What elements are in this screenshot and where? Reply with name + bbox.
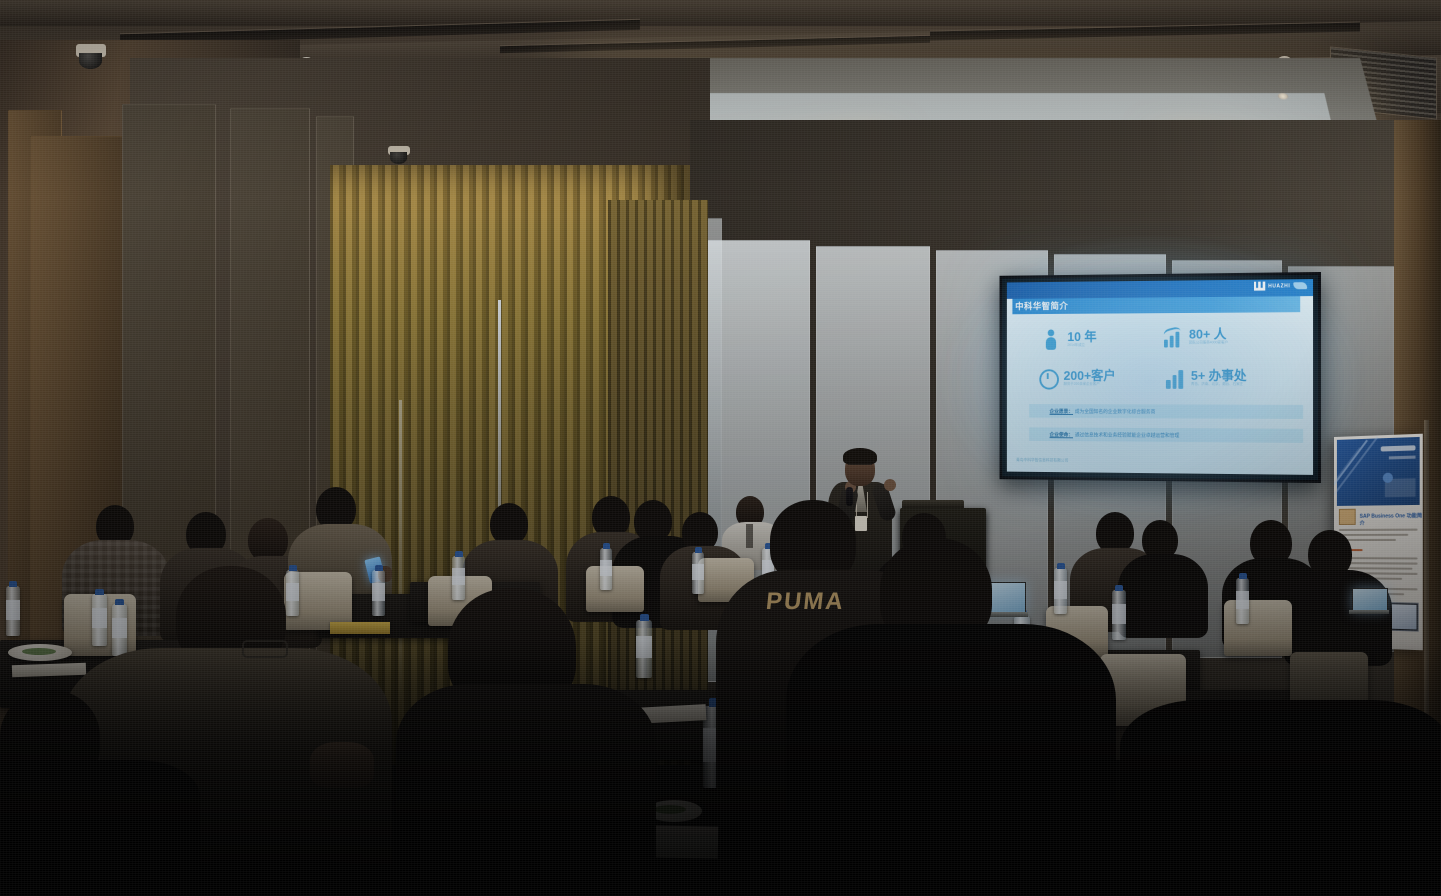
banner-logo — [1339, 509, 1356, 525]
stat-item-offices: 5+ 办事处 青岛、济南、北京、烟台、石家庄 — [1165, 367, 1247, 389]
stat-value: 10 年 — [1067, 330, 1096, 343]
vision-label: 企业愿景： — [1050, 408, 1073, 415]
clock-icon — [1038, 367, 1057, 388]
water-bottle[interactable] — [92, 594, 107, 646]
eyeglasses — [242, 640, 288, 658]
vision-statement: 企业愿景： 成为全国知名的企业数字化综合服务商 — [1029, 404, 1303, 419]
projection-screen: HUAZHI 中科华智简介 10 年 2014年成立 — [999, 272, 1321, 483]
water-bottle[interactable] — [6, 586, 20, 636]
attendee-torso — [0, 760, 200, 896]
conference-room-photo: HUAZHI 中科华智简介 10 年 2014年成立 — [0, 0, 1441, 896]
water-bottle[interactable] — [692, 552, 704, 594]
logo-text: HUAZHI — [1268, 283, 1290, 289]
slide-footer-company: 青岛中科华智信息科技有限公司 — [1016, 457, 1068, 463]
stat-subtext: 2014年成立 — [1067, 343, 1096, 348]
banner-hero-image — [1337, 437, 1420, 506]
puma-logo-text: PUMA — [765, 588, 847, 616]
stat-subtext: 服务于200余家企业客户 — [1064, 382, 1116, 387]
trend-up-icon — [1163, 326, 1182, 348]
company-logo: HUAZHI — [1254, 281, 1308, 291]
attendee-torso — [396, 684, 656, 896]
water-bottle[interactable] — [286, 570, 299, 616]
stat-item-customers: 200+客户 服务于200余家企业客户 — [1038, 367, 1115, 388]
stat-value: 5+ 办事处 — [1191, 369, 1247, 383]
water-bottle[interactable] — [1236, 578, 1249, 624]
stat-subtext: 团队公司服务4000家客户 — [1189, 341, 1228, 346]
mission-label: 企业使命： — [1050, 431, 1073, 438]
stat-item-years: 10 年 2014年成立 — [1042, 328, 1096, 350]
microphone — [846, 487, 853, 506]
water-bottle[interactable] — [600, 548, 612, 590]
water-bottle[interactable] — [452, 556, 465, 600]
huazhi-logo-mark — [1254, 282, 1266, 291]
plate — [8, 644, 72, 661]
window-curtain — [608, 200, 708, 760]
stat-item-staff: 80+ 人 团队公司服务4000家客户 — [1163, 326, 1228, 348]
logo-swoosh — [1293, 282, 1307, 289]
paper-handout[interactable] — [12, 663, 86, 678]
attendee-torso — [786, 624, 1116, 896]
attendee-torso — [1118, 554, 1208, 638]
hand — [310, 742, 374, 788]
downlight — [1277, 93, 1289, 99]
banner-title: SAP Business One 功能简介 — [1360, 512, 1423, 527]
slide-title: 中科华智简介 — [1015, 299, 1068, 312]
dome-security-camera-icon — [390, 152, 407, 164]
stat-value: 200+客户 — [1064, 369, 1116, 382]
mission-statement: 企业使命： 通过信息技术和业务经验赋能企业卓越运营和管理 — [1029, 427, 1303, 443]
presenter-badge — [855, 516, 867, 531]
presenter-hair — [843, 448, 877, 465]
conference-chair[interactable] — [586, 566, 644, 612]
attendee-torso — [1120, 700, 1441, 896]
water-bottle[interactable] — [636, 620, 652, 678]
presentation-slide: HUAZHI 中科华智简介 10 年 2014年成立 — [1007, 279, 1313, 475]
attendee-head — [490, 503, 528, 545]
paper-handout[interactable] — [330, 622, 390, 634]
stat-value: 80+ 人 — [1189, 327, 1228, 341]
dome-security-camera-icon — [79, 53, 102, 69]
attendee-head — [212, 812, 362, 896]
presenter-glasses — [848, 464, 872, 470]
water-bottle[interactable] — [112, 604, 127, 656]
water-bottle[interactable] — [1054, 568, 1067, 614]
mission-text: 通过信息技术和业务经验赋能企业卓越运营和管理 — [1075, 431, 1180, 439]
conference-chair[interactable] — [1224, 600, 1292, 656]
paper-handout[interactable] — [648, 825, 719, 858]
presenter-right-hand — [884, 479, 896, 491]
vision-text: 成为全国知名的企业数字化综合服务商 — [1075, 408, 1156, 415]
stat-subtext: 青岛、济南、北京、烟台、石家庄 — [1191, 382, 1247, 387]
person-icon — [1042, 328, 1061, 349]
water-bottle[interactable] — [1112, 590, 1126, 640]
laptop-screen — [1352, 588, 1388, 612]
water-bottle[interactable] — [372, 570, 385, 616]
bar-chart-icon — [1165, 367, 1184, 389]
